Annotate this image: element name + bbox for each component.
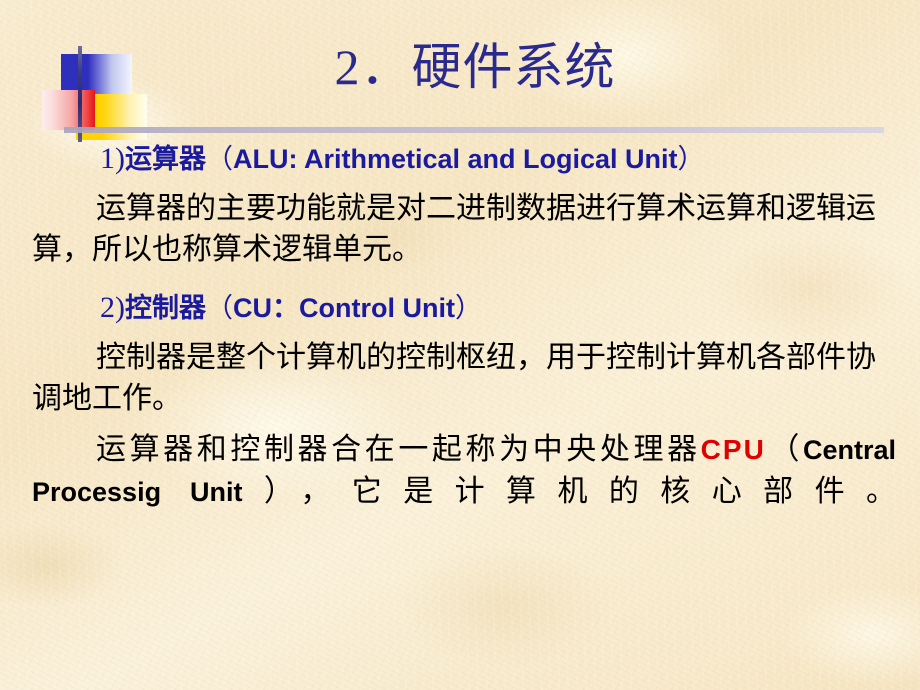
paren-close-2: ） [455, 293, 482, 324]
slide-canvas: 2．硬件系统 1)运算器（ALU: Arithmetical and Logic… [0, 0, 920, 690]
summary-paren-open: （ [766, 433, 803, 466]
section-heading-1: 1)运算器（ALU: Arithmetical and Logical Unit… [0, 137, 920, 182]
paren-open-1: （ [206, 144, 233, 175]
paren-open-2: （ [206, 293, 233, 324]
title-divider [64, 127, 884, 133]
section-title-english-1: ALU: Arithmetical and Logical Unit [233, 144, 678, 174]
summary-part-1: 运算器和控制器合在一起称为中央处理器 [96, 433, 701, 466]
slide-title: 2．硬件系统 [0, 36, 920, 98]
summary-paragraph: 运算器和控制器合在一起称为中央处理器CPU（Central Processig … [0, 429, 920, 513]
section-title-cjk-2: 控制器 [125, 293, 206, 324]
paren-close-1: ） [678, 144, 705, 175]
section-body-2: 控制器是整个计算机的控制枢纽，用于控制计算机各部件协调地工作。 [0, 337, 920, 419]
section-title-english-2: CU：Control Unit [233, 293, 455, 323]
cpu-label: CPU [701, 434, 766, 465]
summary-part-2: ，它是计算机的核心部件。 [300, 475, 896, 508]
summary-paren-close: ） [242, 475, 300, 508]
section-body-1: 运算器的主要功能就是对二进制数据进行算术运算和逻辑运算，所以也称算术逻辑单元。 [0, 188, 920, 270]
section-heading-2: 2)控制器（CU：Control Unit） [0, 286, 920, 331]
slide-content: 1)运算器（ALU: Arithmetical and Logical Unit… [0, 137, 920, 513]
section-title-cjk-1: 运算器 [125, 144, 206, 175]
section-number-2: 2) [100, 291, 125, 324]
section-number-1: 1) [100, 142, 125, 175]
